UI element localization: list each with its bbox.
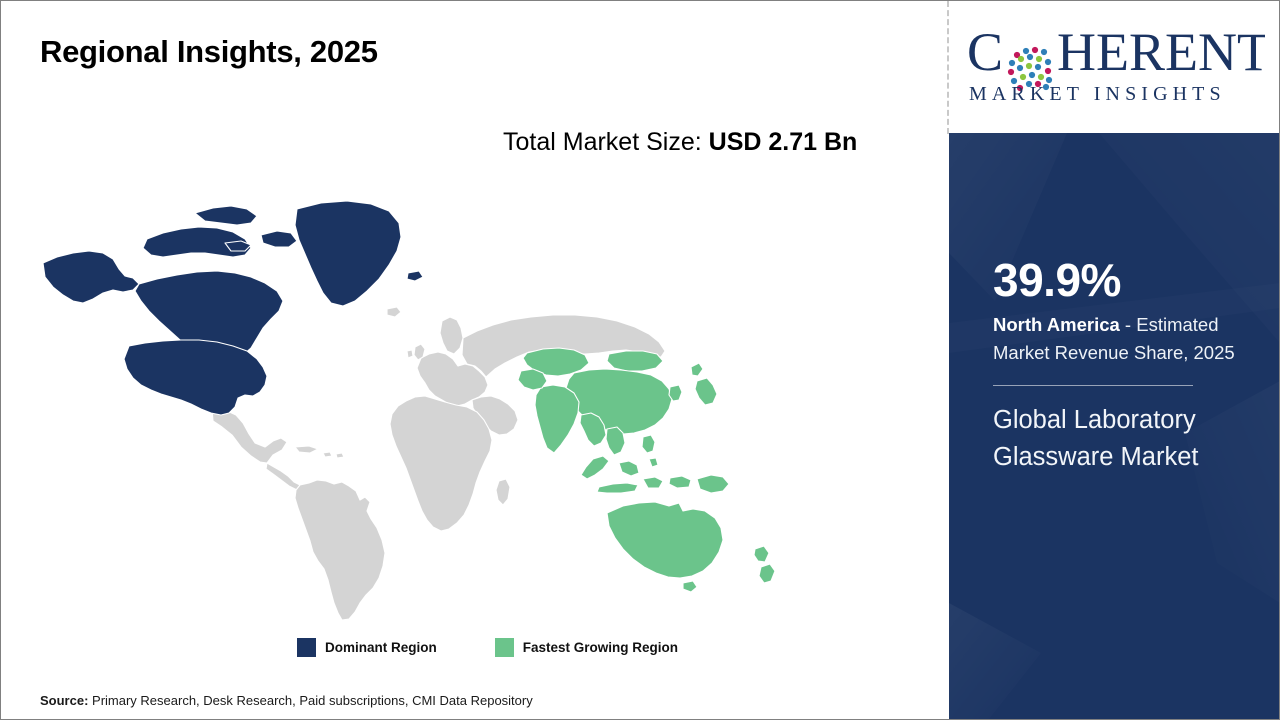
stat-panel: 39.9% North America - Estimated Market R… (949, 133, 1280, 719)
stat-description: North America - Estimated Market Revenue… (993, 311, 1271, 367)
left-content-panel: Regional Insights, 2025 Total Market Siz… (1, 1, 948, 719)
map-region-fastest-growing (518, 348, 775, 592)
total-market-size: Total Market Size: USD 2.71 Bn (503, 125, 889, 161)
legend-swatch-dominant (297, 638, 316, 657)
brand-header: C (949, 1, 1280, 133)
coherent-market-insights-logo: C (965, 24, 1265, 110)
source-text: Primary Research, Desk Research, Paid su… (88, 693, 532, 708)
stat-panel-content: 39.9% North America - Estimated Market R… (993, 257, 1271, 475)
legend-label-dominant: Dominant Region (325, 640, 437, 655)
logo-wordmark: HERENT (1057, 24, 1265, 82)
logo-letter-c: C (967, 24, 1003, 82)
total-market-size-value: USD 2.71 Bn (709, 128, 858, 156)
total-market-size-label: Total Market Size: (503, 128, 709, 156)
legend-swatch-fastest-growing (495, 638, 514, 657)
logo-tagline: MARKET INSIGHTS (969, 83, 1226, 105)
legend-item-dominant: Dominant Region (297, 638, 437, 657)
map-legend: Dominant Region Fastest Growing Region (297, 638, 678, 657)
stat-percent-value: 39.9% (993, 257, 1271, 303)
source-line: Source: Primary Research, Desk Research,… (40, 693, 533, 708)
panel-divider-rule (993, 385, 1193, 386)
legend-item-fastest-growing: Fastest Growing Region (495, 638, 678, 657)
map-region-dominant (43, 201, 423, 415)
world-map[interactable] (29, 191, 829, 621)
market-name: Global Laboratory Glassware Market (993, 402, 1271, 475)
source-label: Source: (40, 693, 88, 708)
page-title: Regional Insights, 2025 (40, 34, 378, 70)
stat-region-name: North America (993, 314, 1120, 335)
regional-insights-infographic: Regional Insights, 2025 Total Market Siz… (0, 0, 1280, 720)
legend-label-fastest-growing: Fastest Growing Region (523, 640, 678, 655)
